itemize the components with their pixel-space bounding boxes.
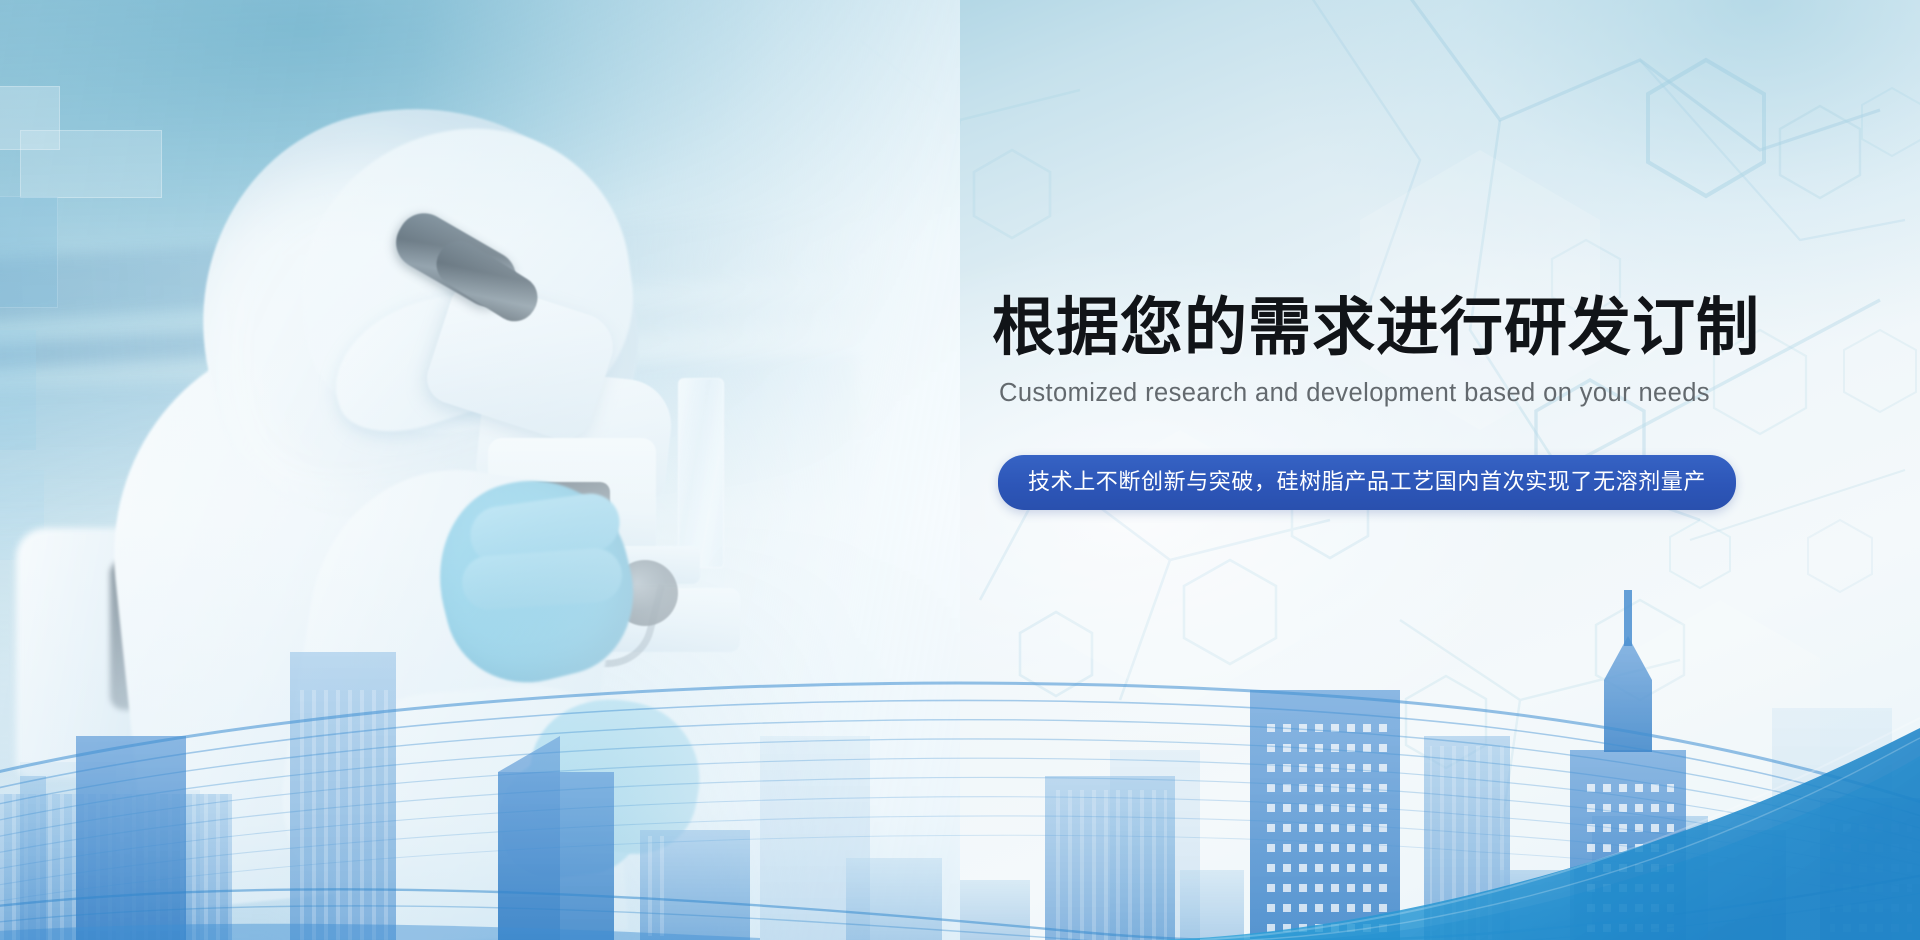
scientist-microscope-photo [0,0,960,940]
page-subtitle: Customized research and development base… [999,378,1752,409]
hero-copy: 根据您的需求进行研发订制 Customized research and dev… [992,296,1752,510]
photo-tint-overlay [0,0,960,940]
page-title: 根据您的需求进行研发订制 [992,296,1752,360]
highlight-badge[interactable]: 技术上不断创新与突破，硅树脂产品工艺国内首次实现了无溶剂量产 [998,455,1736,511]
hero-banner: 根据您的需求进行研发订制 Customized research and dev… [0,0,1920,940]
